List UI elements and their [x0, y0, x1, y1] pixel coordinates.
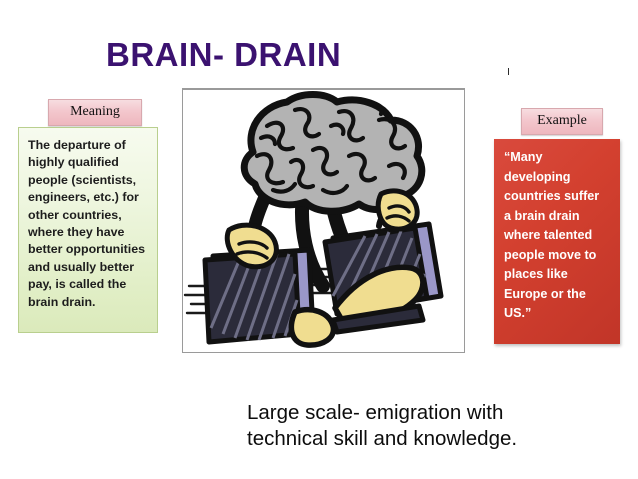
- example-text-box: “Many developing countries suffer a brai…: [494, 139, 620, 344]
- example-line: US.”: [504, 304, 612, 324]
- meaning-badge: Meaning: [48, 99, 142, 126]
- caption-line-2: technical skill and knowledge.: [247, 426, 617, 452]
- meaning-line: highly qualified: [28, 154, 149, 171]
- meaning-line: engineers, etc.) for: [28, 189, 149, 206]
- example-line: “Many: [504, 148, 612, 168]
- example-line: developing: [504, 168, 612, 188]
- brain-with-briefcases-icon: [183, 90, 464, 353]
- example-line: people move to: [504, 246, 612, 266]
- caption-text: Large scale- emigration with technical s…: [247, 400, 617, 452]
- caption-line-1: Large scale- emigration with: [247, 400, 617, 426]
- slide-canvas: BRAIN- DRAIN Meaning The departure of hi…: [0, 0, 638, 479]
- brain-drain-illustration: [182, 88, 465, 353]
- meaning-line: The departure of: [28, 137, 149, 154]
- meaning-line: where they have: [28, 224, 149, 241]
- meaning-line: and usually better: [28, 259, 149, 276]
- hand-right: [378, 191, 417, 229]
- example-line: places like: [504, 265, 612, 285]
- meaning-line: pay, is called the: [28, 276, 149, 293]
- page-title: BRAIN- DRAIN: [106, 36, 341, 74]
- example-line: a brain drain: [504, 207, 612, 227]
- example-line: where talented: [504, 226, 612, 246]
- shoe-left: [291, 310, 333, 345]
- example-line: Europe or the: [504, 285, 612, 305]
- stray-mark-artifact: [508, 68, 509, 75]
- example-line: countries suffer: [504, 187, 612, 207]
- meaning-line: better opportunities: [28, 241, 149, 258]
- hand-left: [227, 225, 276, 267]
- meaning-line: people (scientists,: [28, 172, 149, 189]
- meaning-line: other countries,: [28, 207, 149, 224]
- meaning-line: brain drain.: [28, 294, 149, 311]
- meaning-text-box: The departure of highly qualified people…: [18, 127, 158, 333]
- example-badge: Example: [521, 108, 603, 135]
